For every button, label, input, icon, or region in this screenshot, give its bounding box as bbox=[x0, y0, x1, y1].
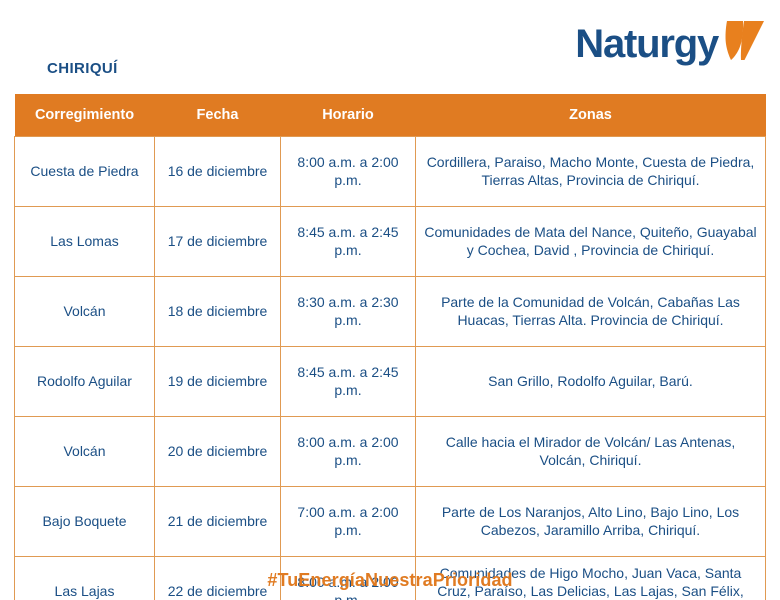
table-row: Cuesta de Piedra 16 de diciembre 8:00 a.… bbox=[15, 136, 766, 206]
cell-zonas: Calle hacia el Mirador de Volcán/ Las An… bbox=[416, 416, 766, 486]
table-row: Volcán 20 de diciembre 8:00 a.m. a 2:00 … bbox=[15, 416, 766, 486]
naturgy-flame-icon bbox=[720, 18, 766, 69]
cell-horario: 8:45 a.m. a 2:45 p.m. bbox=[281, 346, 416, 416]
cell-zonas: Comunidades de Mata del Nance, Quiteño, … bbox=[416, 206, 766, 276]
cell-fecha: 20 de diciembre bbox=[155, 416, 281, 486]
table-row: Rodolfo Aguilar 19 de diciembre 8:45 a.m… bbox=[15, 346, 766, 416]
cell-fecha: 18 de diciembre bbox=[155, 276, 281, 346]
brand-wordmark: Naturgy bbox=[575, 24, 718, 64]
cell-zonas: Cordillera, Paraiso, Macho Monte, Cuesta… bbox=[416, 136, 766, 206]
poster-canvas: Naturgy CHIRIQUÍ Corregimiento Fecha Hor… bbox=[0, 0, 780, 600]
campaign-hashtag: #TuEnergíaNuestraPrioridad bbox=[0, 570, 780, 591]
region-title: CHIRIQUÍ bbox=[47, 60, 118, 77]
table-body: Cuesta de Piedra 16 de diciembre 8:00 a.… bbox=[15, 136, 766, 600]
cell-corregimiento: Las Lomas bbox=[15, 206, 155, 276]
cell-corregimiento: Rodolfo Aguilar bbox=[15, 346, 155, 416]
cell-horario: 8:00 a.m. a 2:00 p.m. bbox=[281, 136, 416, 206]
cell-corregimiento: Volcán bbox=[15, 416, 155, 486]
cell-fecha: 19 de diciembre bbox=[155, 346, 281, 416]
cell-zonas: Parte de la Comunidad de Volcán, Cabañas… bbox=[416, 276, 766, 346]
table-row: Volcán 18 de diciembre 8:30 a.m. a 2:30 … bbox=[15, 276, 766, 346]
schedule-table: Corregimiento Fecha Horario Zonas Cuesta… bbox=[14, 94, 766, 600]
cell-corregimiento: Volcán bbox=[15, 276, 155, 346]
cell-fecha: 16 de diciembre bbox=[155, 136, 281, 206]
cell-zonas: Parte de Los Naranjos, Alto Lino, Bajo L… bbox=[416, 486, 766, 556]
cell-corregimiento: Bajo Boquete bbox=[15, 486, 155, 556]
column-header-corregimiento: Corregimiento bbox=[15, 94, 155, 136]
schedule-table-container: Corregimiento Fecha Horario Zonas Cuesta… bbox=[14, 94, 765, 600]
column-header-fecha: Fecha bbox=[155, 94, 281, 136]
cell-fecha: 21 de diciembre bbox=[155, 486, 281, 556]
cell-horario: 8:00 a.m. a 2:00 p.m. bbox=[281, 416, 416, 486]
cell-corregimiento: Cuesta de Piedra bbox=[15, 136, 155, 206]
table-header-row: Corregimiento Fecha Horario Zonas bbox=[15, 94, 766, 136]
table-row: Las Lomas 17 de diciembre 8:45 a.m. a 2:… bbox=[15, 206, 766, 276]
naturgy-logo: Naturgy bbox=[575, 18, 766, 69]
cell-horario: 8:30 a.m. a 2:30 p.m. bbox=[281, 276, 416, 346]
cell-fecha: 17 de diciembre bbox=[155, 206, 281, 276]
cell-horario: 8:45 a.m. a 2:45 p.m. bbox=[281, 206, 416, 276]
table-row: Bajo Boquete 21 de diciembre 7:00 a.m. a… bbox=[15, 486, 766, 556]
cell-horario: 7:00 a.m. a 2:00 p.m. bbox=[281, 486, 416, 556]
table-header: Corregimiento Fecha Horario Zonas bbox=[15, 94, 766, 136]
column-header-zonas: Zonas bbox=[416, 94, 766, 136]
cell-zonas: San Grillo, Rodolfo Aguilar, Barú. bbox=[416, 346, 766, 416]
column-header-horario: Horario bbox=[281, 94, 416, 136]
